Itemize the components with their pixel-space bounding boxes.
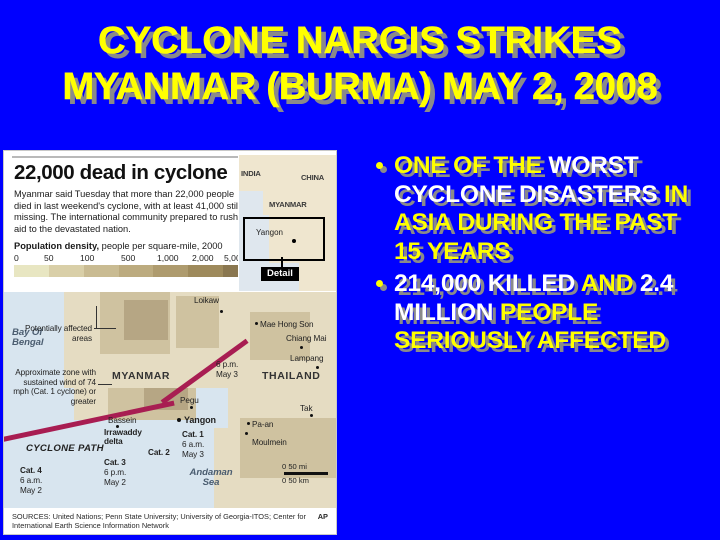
track-time-may3-pm: 6 p.m. xyxy=(216,360,238,370)
map-annotation-potentially-affected: Potentially affected areas xyxy=(18,324,92,343)
legend-title-rest: people per square-mile, 2000 xyxy=(99,241,223,251)
track-label-cat4: Cat. 4 xyxy=(20,466,42,476)
bullet-list: ONE OF THE WORST CYCLONE DISASTERS IN AS… xyxy=(370,152,710,360)
sources-text: SOURCES: United Nations; Penn State Univ… xyxy=(12,512,306,530)
map-label-lampang: Lampang xyxy=(290,354,323,364)
map-dot-pa-an xyxy=(247,422,250,425)
bullet-marker-icon xyxy=(376,280,383,287)
title-line-1: CYCLONE NARGIS STRIKES xyxy=(0,18,720,64)
legend-tick-4: 1,000 xyxy=(157,253,179,263)
inset-label-yangon: Yangon xyxy=(256,228,283,237)
map-label-bassein: Bassein xyxy=(108,416,136,426)
slide-title: CYCLONE NARGIS STRIKES MYANMAR (BURMA) M… xyxy=(0,18,720,110)
news-headline: 22,000 dead in cyclone xyxy=(14,161,254,185)
legend-swatch-4 xyxy=(153,265,188,277)
map-label-myanmar: MYANMAR xyxy=(112,372,170,382)
ap-credit: AP xyxy=(318,512,328,521)
legend-swatch-1 xyxy=(49,265,84,277)
map-dot-pegu xyxy=(190,406,193,409)
map-label-mae-hong-son: Mae Hong Son xyxy=(260,320,313,330)
main-map: MYANMAR THAILAND Bay Of Bengal Andaman S… xyxy=(4,292,337,508)
leader-line-zone xyxy=(98,384,112,385)
track-time-cat1: 6 a.m. xyxy=(182,440,204,450)
track-date-cat1: May 3 xyxy=(182,450,204,460)
map-dot-lampang xyxy=(316,366,319,369)
track-time-cat3: 6 p.m. xyxy=(104,468,126,478)
scale-km: 0 50 km xyxy=(282,476,328,485)
map-dot-chiang-mai xyxy=(300,346,303,349)
legend-tick-3: 500 xyxy=(121,253,135,263)
inset-detail-box xyxy=(243,217,325,261)
legend-tick-5: 2,000 xyxy=(192,253,214,263)
map-label-pa-an: Pa-an xyxy=(252,420,273,430)
legend-title: Population density, people per square-mi… xyxy=(14,241,264,251)
legend-swatch-0 xyxy=(14,265,49,277)
bullet-marker-icon xyxy=(376,162,383,169)
bullet-item-2: 214,000 KILLED AND 2.4 MILLION PEOPLE SE… xyxy=(370,270,710,356)
map-dot-yangon xyxy=(177,418,181,422)
track-time-cat4: 6 a.m. xyxy=(20,476,42,486)
track-date-may3-pm: May 3 xyxy=(216,370,238,380)
inset-label-china: CHINA xyxy=(301,173,324,182)
title-line-2: MYANMAR (BURMA) MAY 2, 2008 xyxy=(0,64,720,110)
leader-line-affected xyxy=(94,328,116,329)
map-dot-loikaw xyxy=(220,310,223,313)
bullet-1-segment-1: ONE OF THE xyxy=(394,152,548,179)
map-label-irrawaddy-delta: Irrawaddy delta xyxy=(104,428,148,446)
inset-label-myanmar: MYANMAR xyxy=(269,200,307,209)
legend-color-scale xyxy=(14,265,258,277)
legend-tick-0: 0 xyxy=(14,253,19,263)
map-label-loikaw: Loikaw xyxy=(194,296,219,306)
track-label-cat1: Cat. 1 xyxy=(182,430,204,440)
track-label-cat3: Cat. 3 xyxy=(104,458,126,468)
map-dot-tak xyxy=(310,414,313,417)
legend-tick-2: 100 xyxy=(80,253,94,263)
inset-detail-tag: Detail xyxy=(261,267,299,281)
ap-map-graphic: 22,000 dead in cyclone Myanmar said Tues… xyxy=(3,150,337,535)
news-body-text: Myanmar said Tuesday that more than 22,0… xyxy=(14,189,251,235)
map-dot-mae-hong-son xyxy=(255,322,258,325)
legend-tick-labels: 0 50 100 500 1,000 2,000 5,000 + xyxy=(14,253,258,265)
legend-title-bold: Population density, xyxy=(14,241,99,251)
map-annotation-approximate-zone: Approximate zone with sustained wind of … xyxy=(10,368,96,406)
legend-swatch-3 xyxy=(119,265,154,277)
map-label-andaman-sea: Andaman Sea xyxy=(180,468,242,487)
scale-bar-line xyxy=(284,472,328,475)
land-highlands-2 xyxy=(124,300,168,340)
map-label-moulmein: Moulmein xyxy=(252,438,287,448)
slide-canvas: CYCLONE NARGIS STRIKES MYANMAR (BURMA) M… xyxy=(0,0,720,540)
scale-miles: 0 50 mi xyxy=(282,462,328,471)
leader-line-affected-v xyxy=(96,306,97,329)
sources-line: SOURCES: United Nations; Penn State Univ… xyxy=(12,512,330,530)
map-label-pegu: Pegu xyxy=(180,396,199,406)
track-date-cat4: May 2 xyxy=(20,486,42,496)
legend-swatch-2 xyxy=(84,265,119,277)
bullet-2-segment-1: 214,000 KILLED xyxy=(394,270,581,297)
map-label-thailand: THAILAND xyxy=(262,372,320,382)
bullet-item-1: ONE OF THE WORST CYCLONE DISASTERS IN AS… xyxy=(370,152,710,266)
track-label-cat2: Cat. 2 xyxy=(148,448,170,458)
track-date-cat3: May 2 xyxy=(104,478,126,488)
map-label-tak: Tak xyxy=(300,404,312,414)
legend-tick-1: 50 xyxy=(44,253,54,263)
inset-city-dot-yangon xyxy=(292,239,296,243)
map-label-yangon: Yangon xyxy=(184,416,216,426)
map-dot-moulmein xyxy=(245,432,248,435)
map-label-chiang-mai: Chiang Mai xyxy=(286,334,326,344)
map-scale-bar: 0 50 mi 0 50 km xyxy=(282,462,328,485)
map-annotation-cyclone-path: CYCLONE PATH xyxy=(26,444,104,454)
bullet-2-segment-2: AND xyxy=(581,270,640,297)
inset-locator-map: INDIA CHINA MYANMAR Yangon Detail xyxy=(238,155,336,291)
inset-label-india: INDIA xyxy=(241,169,261,178)
legend-swatch-5 xyxy=(188,265,223,277)
